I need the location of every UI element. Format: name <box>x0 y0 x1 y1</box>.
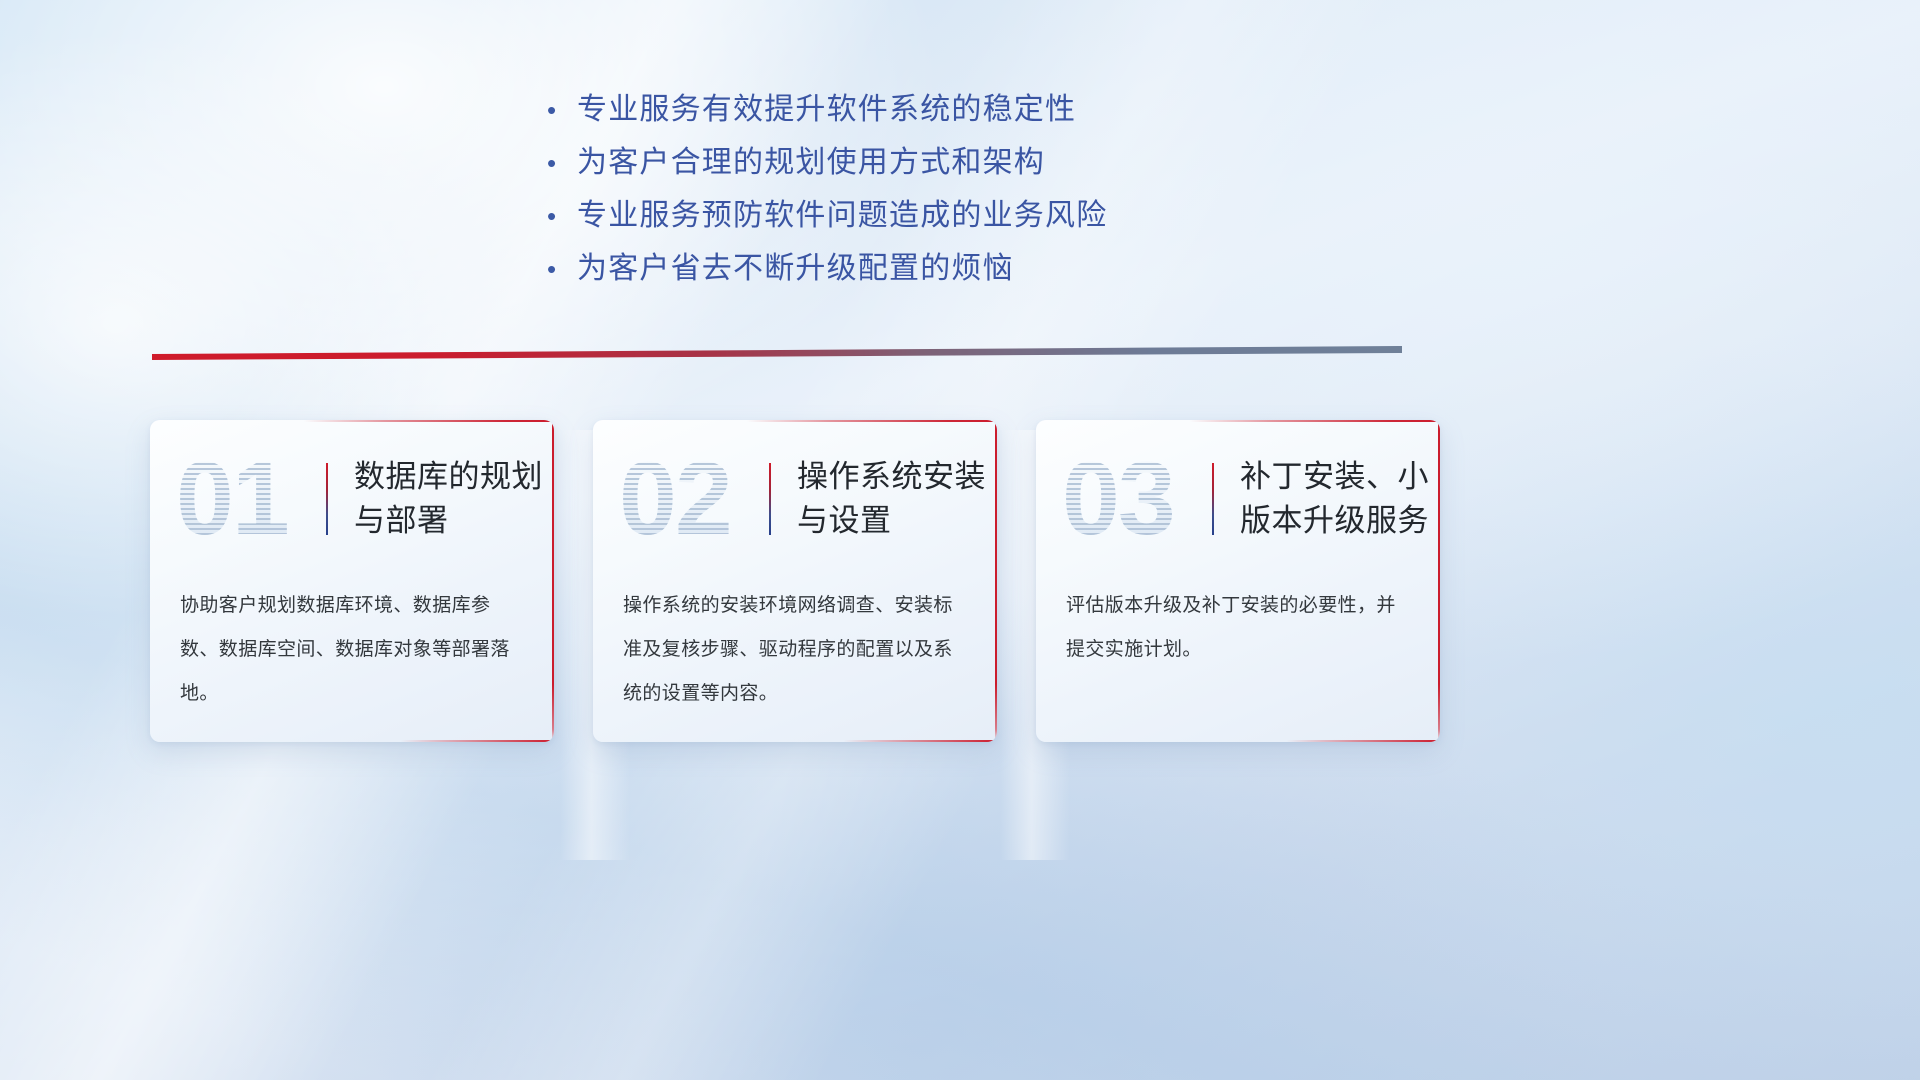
service-cards: 01 数据库的规划与部署 协助客户规划数据库环境、数据库参数、数据库空间、数据库… <box>150 420 1770 742</box>
benefits-bullet-list: • 专业服务有效提升软件系统的稳定性 • 为客户合理的规划使用方式和架构 • 专… <box>543 92 1323 304</box>
list-item: • 为客户合理的规划使用方式和架构 <box>543 145 1323 181</box>
card-divider-bar <box>1212 463 1214 535</box>
service-card[interactable]: 03 补丁安装、小版本升级服务 评估版本升级及补丁安装的必要性，并提交实施计划。 <box>1036 420 1440 742</box>
card-body-text: 协助客户规划数据库环境、数据库参数、数据库空间、数据库对象等部署落地。 <box>150 578 554 716</box>
card-number-watermark: 02 <box>619 443 763 555</box>
divider-shape-icon <box>152 340 1402 366</box>
card-divider-bar <box>326 463 328 535</box>
card-accent-bottom <box>1036 740 1440 742</box>
bullet-dot-icon: • <box>543 203 577 229</box>
card-header: 03 补丁安装、小版本升级服务 <box>1036 420 1440 578</box>
card-header: 02 操作系统安装与设置 <box>593 420 997 578</box>
service-card[interactable]: 01 数据库的规划与部署 协助客户规划数据库环境、数据库参数、数据库空间、数据库… <box>150 420 554 742</box>
card-title: 操作系统安装与设置 <box>797 455 997 543</box>
card-number-watermark: 03 <box>1062 443 1206 555</box>
card-divider-bar <box>769 463 771 535</box>
list-item: • 专业服务预防软件问题造成的业务风险 <box>543 198 1323 234</box>
bullet-dot-icon: • <box>543 97 577 123</box>
list-item: • 专业服务有效提升软件系统的稳定性 <box>543 92 1323 128</box>
card-number-watermark: 01 <box>176 443 320 555</box>
list-item: • 为客户省去不断升级配置的烦恼 <box>543 251 1323 287</box>
bullet-dot-icon: • <box>543 256 577 282</box>
card-title: 补丁安装、小版本升级服务 <box>1240 455 1440 543</box>
card-header: 01 数据库的规划与部署 <box>150 420 554 578</box>
bullet-text: 为客户合理的规划使用方式和架构 <box>577 145 1045 181</box>
card-accent-bottom <box>593 740 997 742</box>
card-title: 数据库的规划与部署 <box>354 455 554 543</box>
slide-canvas: • 专业服务有效提升软件系统的稳定性 • 为客户合理的规划使用方式和架构 • 专… <box>0 0 1920 1080</box>
card-body-text: 操作系统的安装环境网络调查、安装标准及复核步骤、驱动程序的配置以及系统的设置等内… <box>593 578 997 716</box>
card-body-text: 评估版本升级及补丁安装的必要性，并提交实施计划。 <box>1036 578 1440 672</box>
bullet-text: 为客户省去不断升级配置的烦恼 <box>577 251 1014 287</box>
bullet-text: 专业服务预防软件问题造成的业务风险 <box>577 198 1107 234</box>
section-divider <box>152 340 1402 366</box>
card-accent-bottom <box>150 740 554 742</box>
service-card[interactable]: 02 操作系统安装与设置 操作系统的安装环境网络调查、安装标准及复核步骤、驱动程… <box>593 420 997 742</box>
bullet-dot-icon: • <box>543 150 577 176</box>
bullet-text: 专业服务有效提升软件系统的稳定性 <box>577 92 1076 128</box>
